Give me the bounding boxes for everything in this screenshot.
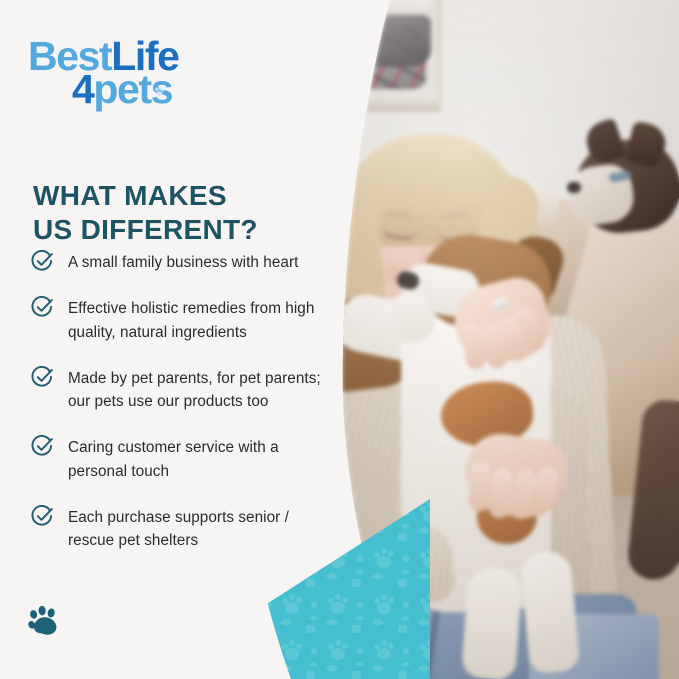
check-circle-icon (31, 505, 54, 528)
paw-print-icon (26, 602, 64, 642)
list-item: Each purchase supports senior / rescue p… (31, 505, 331, 553)
check-circle-icon (31, 435, 54, 458)
benefit-text: A small family business with heart (68, 250, 331, 274)
benefits-list: A small family business with heart Effec… (31, 250, 331, 552)
benefit-text: Each purchase supports senior / rescue p… (68, 505, 331, 553)
benefit-text: Made by pet parents, for pet parents; ou… (68, 366, 331, 414)
headline-line-1: WHAT MAKES (33, 180, 227, 211)
page-title: WHAT MAKES US DIFFERENT? (33, 179, 313, 247)
headline-line-2: US DIFFERENT? (33, 214, 258, 245)
photo-canvas (279, 0, 679, 679)
brand-logo[interactable]: BestLife 4pets (28, 36, 208, 114)
check-circle-icon (31, 296, 54, 319)
list-item: Made by pet parents, for pet parents; ou… (31, 366, 331, 414)
check-circle-icon (31, 250, 54, 273)
front-dog-hind-leg-left (461, 566, 523, 679)
promo-poster: BestLife 4pets WHAT MAKES US DIFFERENT? (0, 0, 679, 679)
benefit-text: Caring customer service with a personal … (68, 435, 331, 483)
siamese-cat-nose (567, 182, 581, 193)
folded-blanket-secondary (358, 15, 432, 67)
benefit-text: Effective holistic remedies from high qu… (68, 296, 331, 344)
list-item: A small family business with heart (31, 250, 331, 274)
check-circle-icon (31, 366, 54, 389)
logo-word-four: 4 (72, 66, 93, 112)
list-item: Effective holistic remedies from high qu… (31, 296, 331, 344)
list-item: Caring customer service with a personal … (31, 435, 331, 483)
paw-print-icon (153, 85, 166, 98)
content-pane: BestLife 4pets WHAT MAKES US DIFFERENT? (0, 0, 330, 679)
woman-with-pets-photo (279, 0, 679, 679)
shelf-frame-edge (431, 0, 442, 112)
